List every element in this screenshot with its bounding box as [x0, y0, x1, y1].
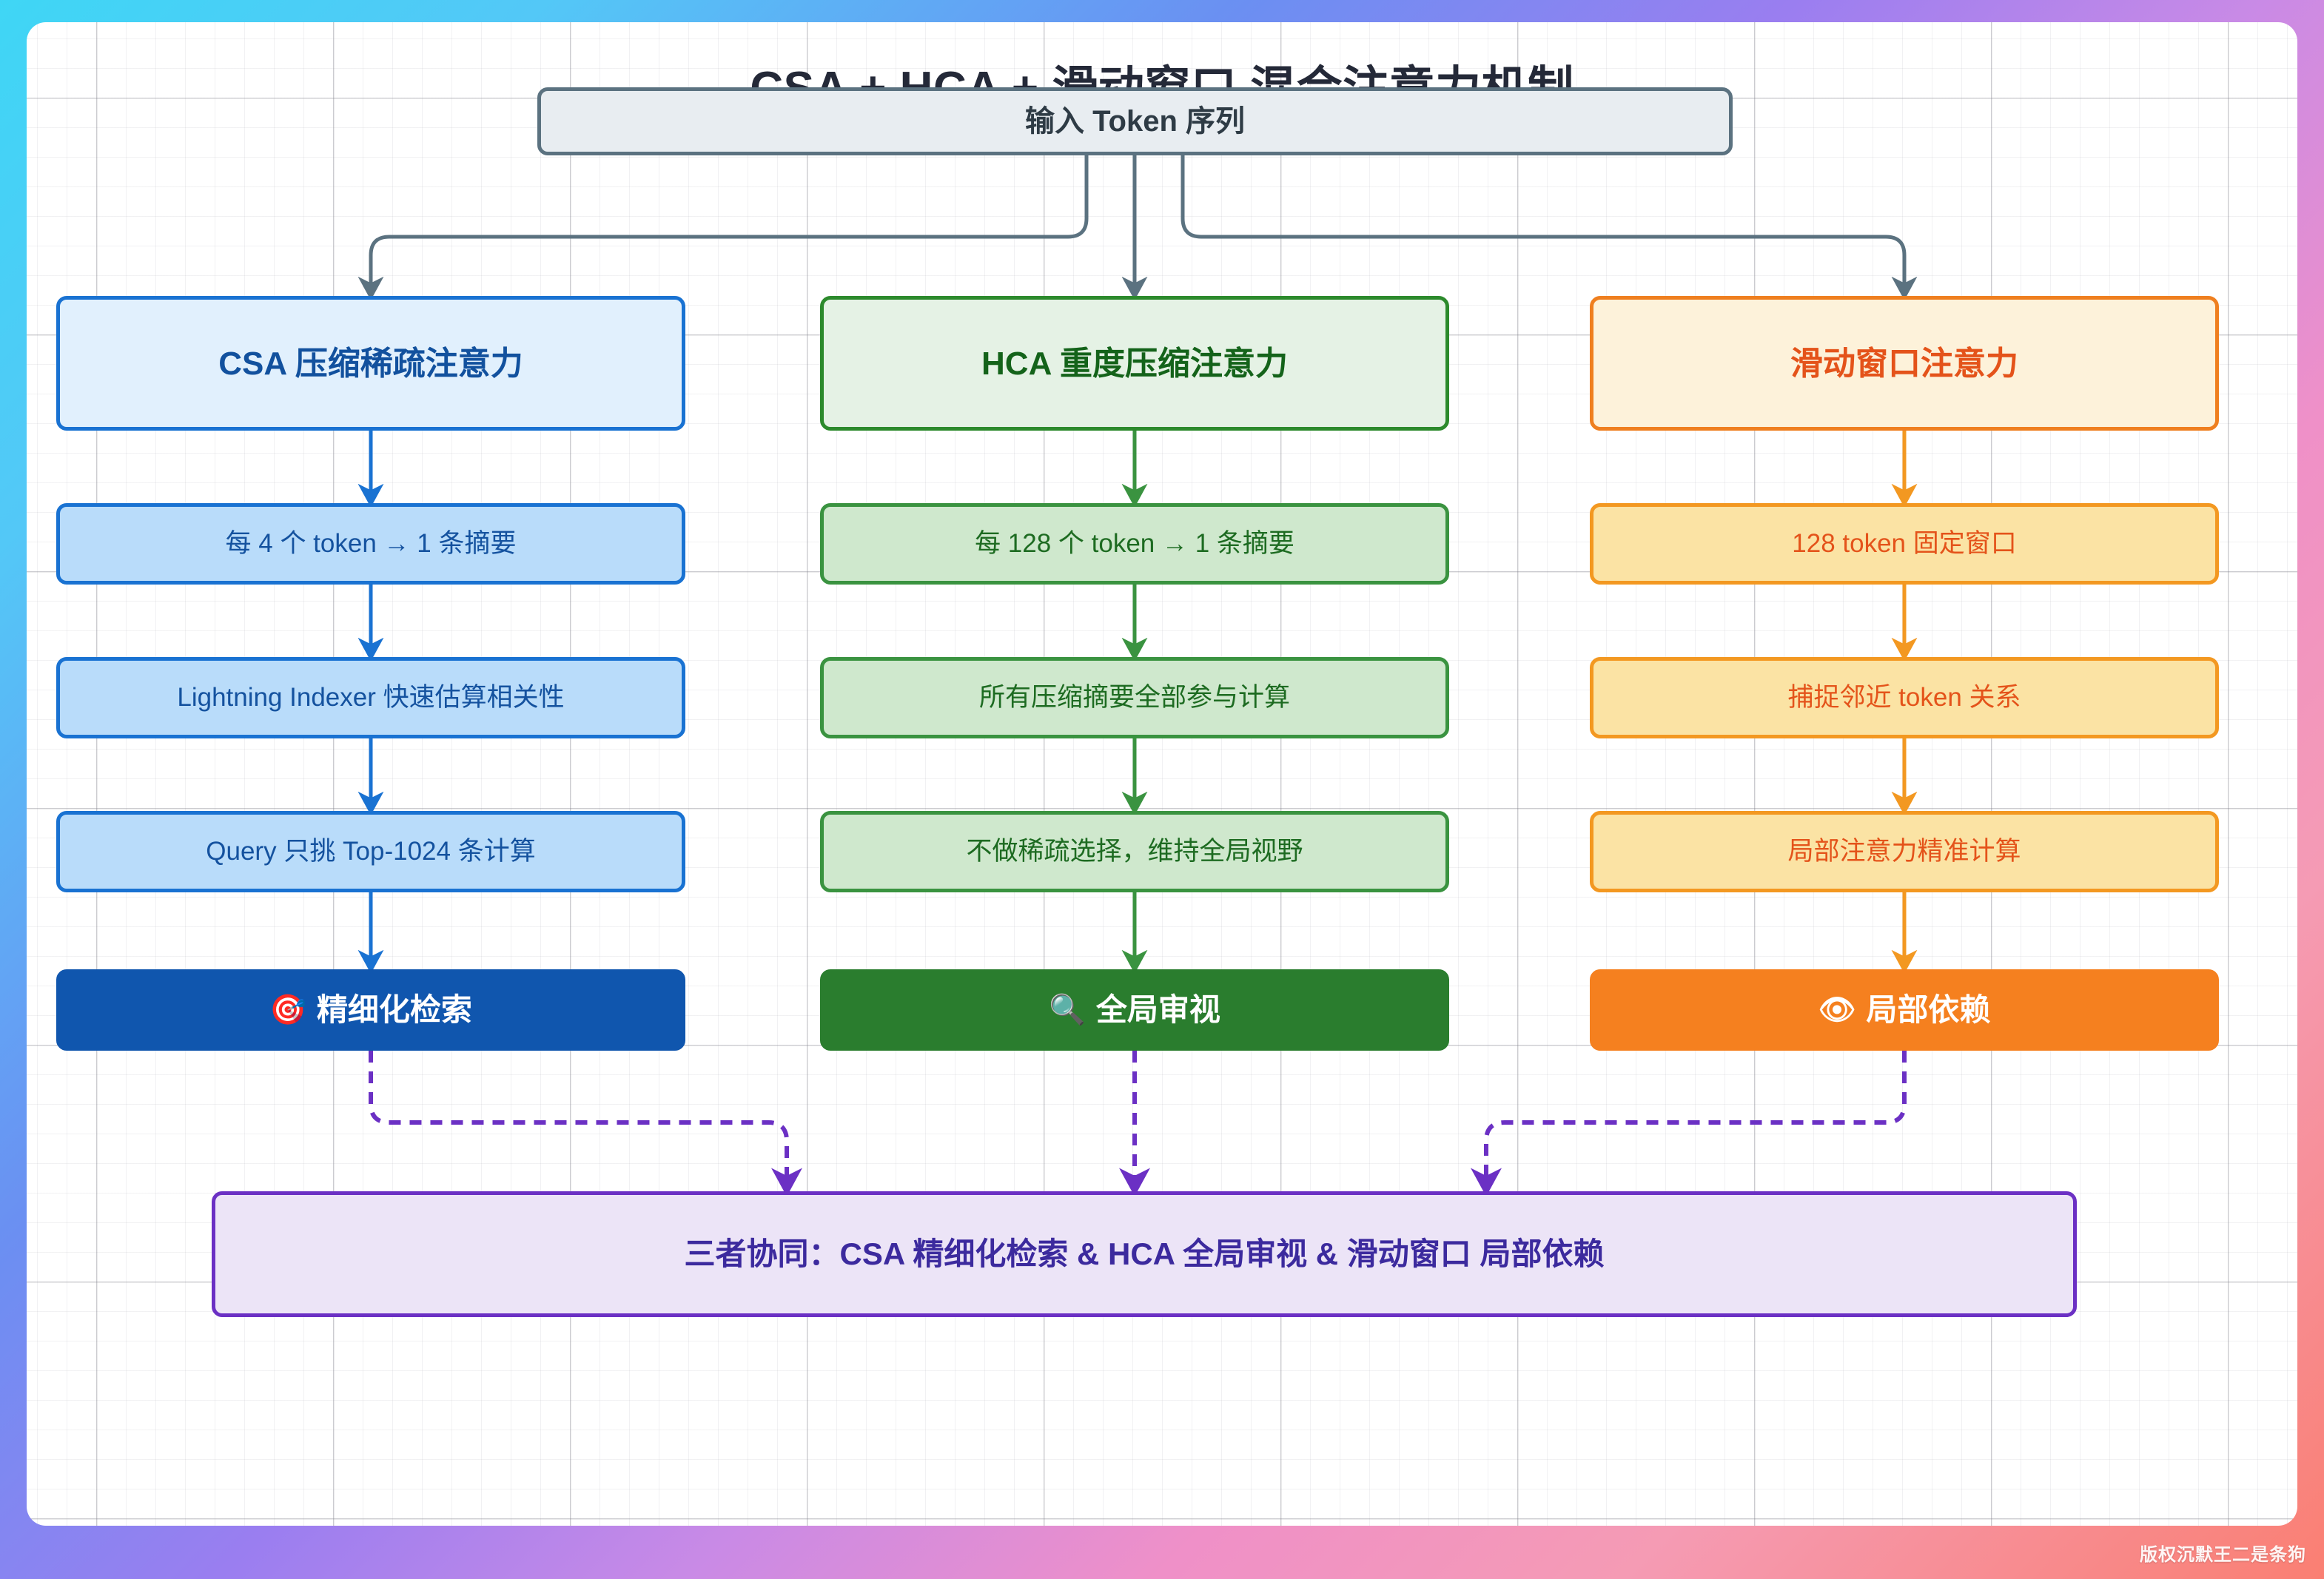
node-csa-outcome[interactable]: 🎯 精细化检索 [56, 969, 685, 1051]
target-icon: 🎯 [269, 995, 306, 1025]
node-csa-step-3[interactable]: Query 只挑 Top-1024 条计算 [56, 811, 685, 892]
node-csa-step-3-label: Query 只挑 Top-1024 条计算 [206, 835, 535, 868]
node-sliding-window-step-2[interactable]: 捕捉邻近 token 关系 [1590, 657, 2219, 738]
node-sliding-window-outcome-label: 局部依赖 [1866, 991, 1990, 1030]
node-input-tokens[interactable]: 输入 Token 序列 [537, 87, 1733, 155]
node-hca-step-3[interactable]: 不做稀疏选择，维持全局视野 [820, 811, 1449, 892]
node-hca-header[interactable]: HCA 重度压缩注意力 [820, 296, 1449, 431]
node-hca-step-2-label: 所有压缩摘要全部参与计算 [979, 681, 1290, 714]
node-sliding-window-step-3[interactable]: 局部注意力精准计算 [1590, 811, 2219, 892]
node-csa-header[interactable]: CSA 压缩稀疏注意力 [56, 296, 685, 431]
node-csa-step-1[interactable]: 每 4 个 token → 1 条摘要 [56, 503, 685, 585]
node-hca-step-1-label: 每 128 个 token → 1 条摘要 [975, 528, 1294, 560]
node-sliding-window-step-3-label: 局部注意力精准计算 [1787, 835, 2021, 868]
node-summary[interactable]: 三者协同：CSA 精细化检索 & HCA 全局审视 & 滑动窗口 局部依赖 [212, 1191, 2077, 1317]
node-hca-outcome-label: 全局审视 [1096, 991, 1220, 1030]
node-csa-step-1-label: 每 4 个 token → 1 条摘要 [226, 528, 517, 560]
diagram-canvas: CSA + HCA + 滑动窗口 混合注意力机制 输入 Token 序列 CSA… [27, 22, 2297, 1526]
magnifier-icon: 🔍 [1049, 995, 1086, 1025]
edge-csa-to-summary [371, 1051, 787, 1191]
node-sliding-window-step-1-label: 128 token 固定窗口 [1792, 528, 2016, 560]
eye-icon: 👁 [1818, 995, 1856, 1025]
node-sliding-window-header-label: 滑动窗口注意力 [1790, 343, 2018, 384]
node-csa-header-label: CSA 压缩稀疏注意力 [218, 343, 523, 384]
edge-input-to-sliding-window [1183, 155, 1904, 296]
node-csa-step-2[interactable]: Lightning Indexer 快速估算相关性 [56, 657, 685, 738]
watermark: 版权沉默王二是条狗 [2140, 1540, 2306, 1566]
node-hca-header-label: HCA 重度压缩注意力 [981, 343, 1288, 384]
edge-input-to-csa [371, 155, 1087, 296]
node-csa-step-2-label: Lightning Indexer 快速估算相关性 [177, 681, 564, 714]
node-hca-step-2[interactable]: 所有压缩摘要全部参与计算 [820, 657, 1449, 738]
node-hca-outcome[interactable]: 🔍 全局审视 [820, 969, 1449, 1051]
node-summary-label: 三者协同：CSA 精细化检索 & HCA 全局审视 & 滑动窗口 局部依赖 [685, 1235, 1605, 1274]
node-sliding-window-header[interactable]: 滑动窗口注意力 [1590, 296, 2219, 431]
node-sliding-window-outcome[interactable]: 👁 局部依赖 [1590, 969, 2219, 1051]
edge-sliding-window-to-summary [1486, 1051, 1904, 1191]
node-input-tokens-label: 输入 Token 序列 [1025, 103, 1245, 140]
node-hca-step-3-label: 不做稀疏选择，维持全局视野 [966, 835, 1303, 868]
node-hca-step-1[interactable]: 每 128 个 token → 1 条摘要 [820, 503, 1449, 585]
node-sliding-window-step-2-label: 捕捉邻近 token 关系 [1787, 681, 2021, 714]
node-csa-outcome-label: 精细化检索 [317, 991, 472, 1030]
node-sliding-window-step-1[interactable]: 128 token 固定窗口 [1590, 503, 2219, 585]
